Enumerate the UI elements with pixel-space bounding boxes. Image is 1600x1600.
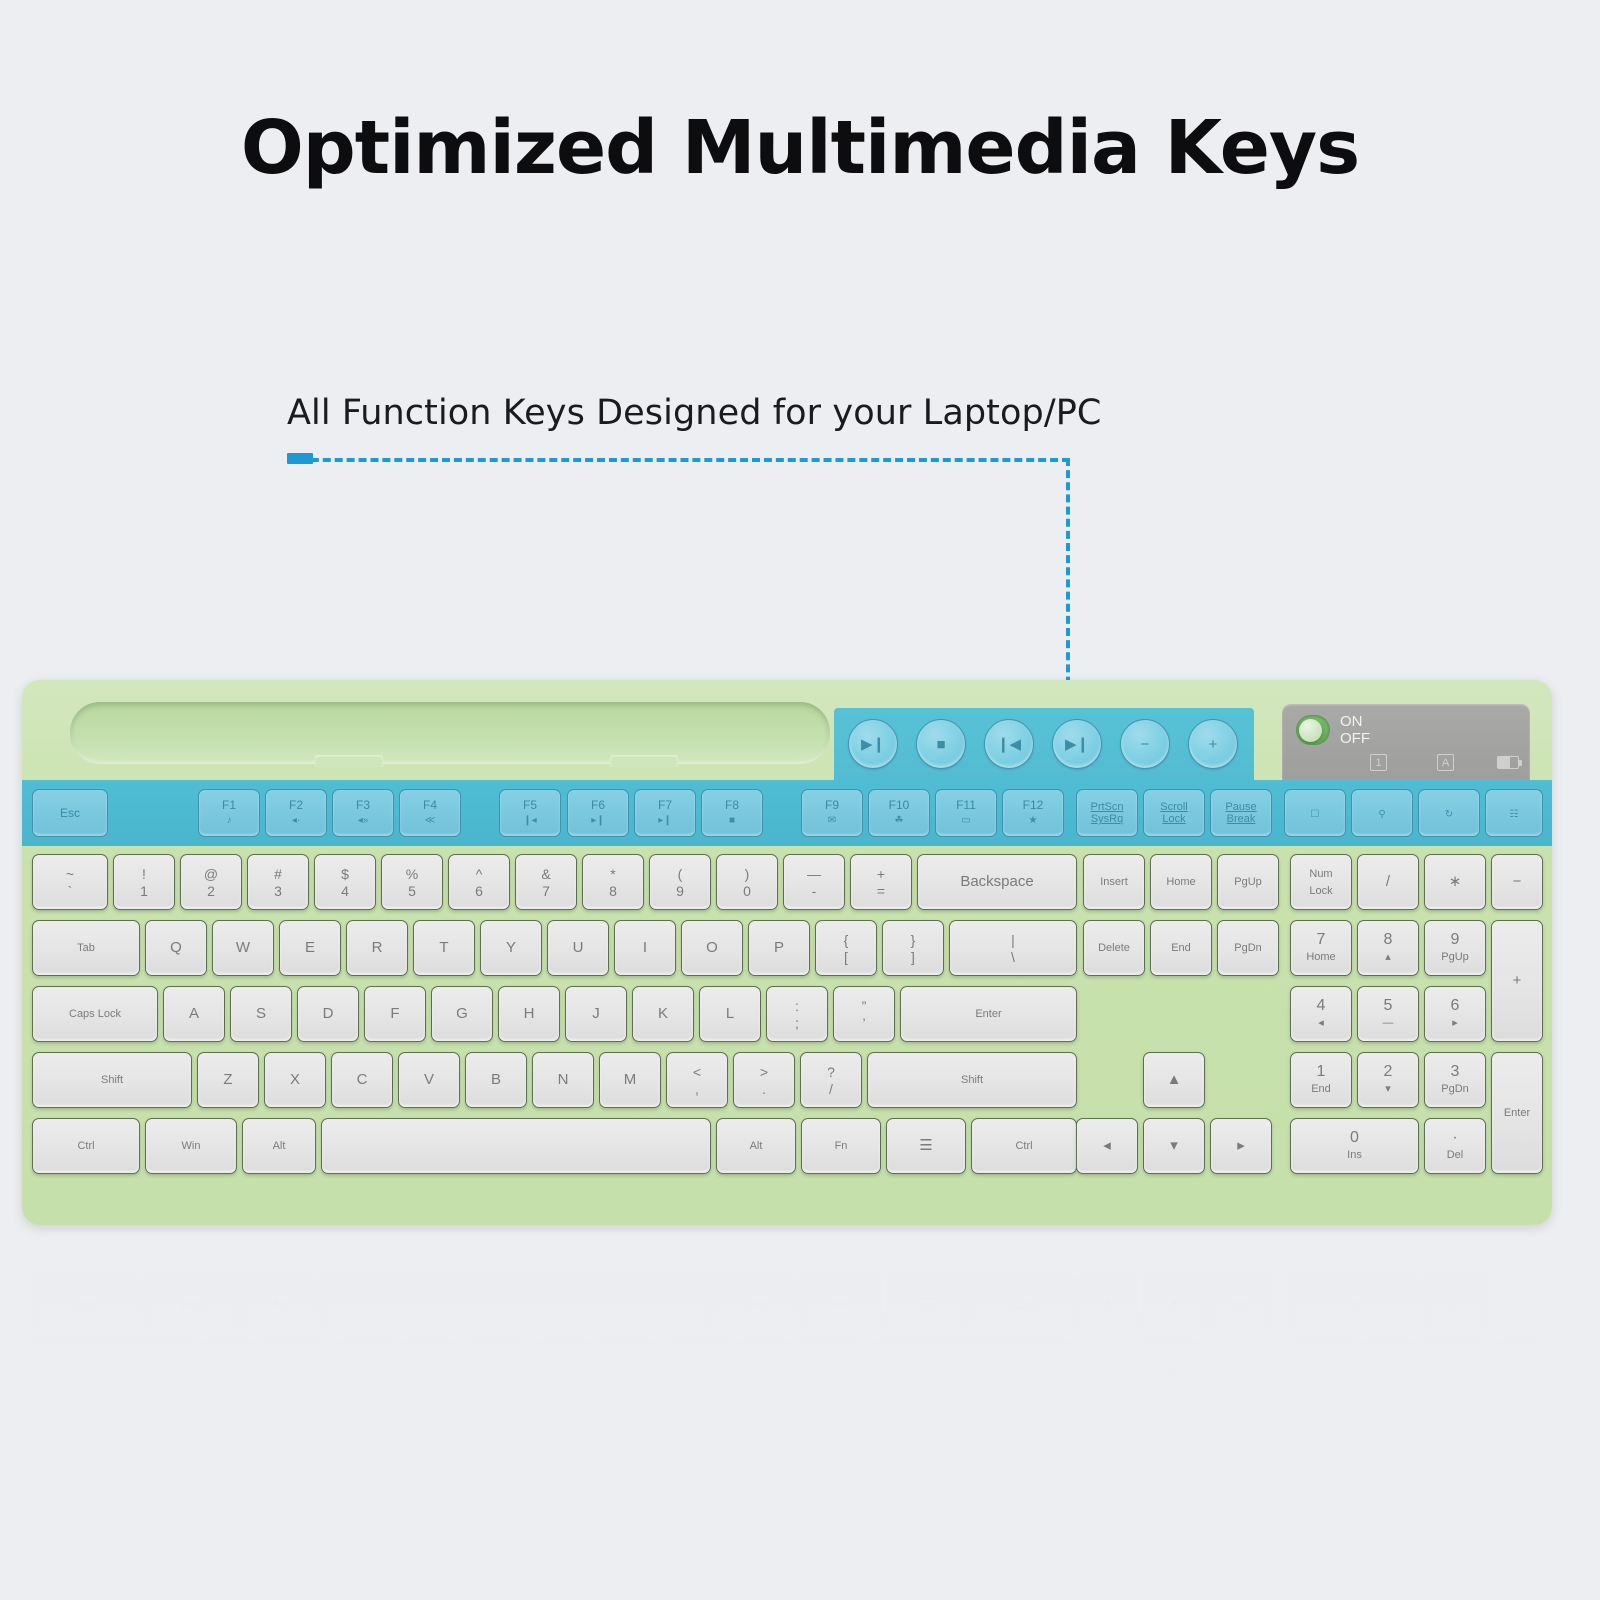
power-panel: ON OFF 1 A — [1282, 704, 1530, 780]
reflection-key: 0 — [1290, 1275, 1419, 1331]
key-b[interactable]: B — [465, 1052, 527, 1108]
key-j-label: J — [592, 1006, 600, 1022]
refresh-icon: ↻ — [1445, 808, 1453, 821]
key-[interactable]: ?/ — [800, 1052, 862, 1108]
battery-indicator — [1497, 756, 1519, 769]
key-g[interactable]: G — [431, 986, 493, 1042]
key-i[interactable]: I — [614, 920, 676, 976]
key-5-label-top: 5 — [1384, 998, 1393, 1014]
fnkey-f9-symbol-icon: ✉ — [828, 814, 836, 827]
fnkey-f5[interactable]: F5❙◂ — [499, 789, 561, 837]
fnkey-esc[interactable]: Esc — [32, 789, 108, 837]
fnkey-f7-label: F7 — [658, 799, 672, 812]
reflection-key: 3 — [1424, 1341, 1486, 1397]
on-label: ON — [1340, 713, 1370, 730]
key-s[interactable]: S — [230, 986, 292, 1042]
key--label-bottom: . — [762, 1081, 766, 1097]
fnkey-f11-symbol-icon: ▭ — [961, 814, 970, 827]
key-shift-label: Shift — [961, 1072, 983, 1088]
key-7home-label-bottom: Home — [1306, 949, 1335, 965]
key-enter-label: Enter — [1504, 1105, 1530, 1121]
key-shift-label: Shift — [101, 1072, 123, 1088]
volume-up-button[interactable]: + — [1188, 719, 1238, 769]
fnkey-f6[interactable]: F6▸❙ — [567, 789, 629, 837]
fnkey-f2-symbol-icon: ◂· — [292, 814, 300, 827]
num-lock-indicator: 1 — [1370, 754, 1387, 771]
fnkey-scroll[interactable]: ScrollLock — [1143, 789, 1205, 837]
key-p-label: P — [774, 940, 784, 956]
key-m-label: M — [624, 1072, 637, 1088]
key-numlock[interactable]: NumLock — [1290, 854, 1352, 910]
key-[interactable]: / — [1357, 854, 1419, 910]
keyboard: ▶❙■❙◀▶❙−+ ON OFF 1 A EscF1♪F2◂·F — [22, 680, 1552, 1225]
function-key-band: EscF1♪F2◂·F3◂»F4≪F5❙◂F6▸❙F7▸❙F8■F9✉F10☘F… — [22, 780, 1552, 846]
key-[interactable]: += — [850, 854, 912, 910]
key--label-bottom: [ — [844, 949, 848, 965]
fnkey-f9[interactable]: F9✉ — [801, 789, 863, 837]
key-v-label: V — [424, 1072, 434, 1088]
key-e[interactable]: E — [279, 920, 341, 976]
key-end[interactable]: End — [1150, 920, 1212, 976]
previous-track-button-glyph: ❙◀ — [997, 737, 1021, 752]
key-enter[interactable]: Enter — [900, 986, 1077, 1042]
reflection-key: X — [264, 1341, 326, 1397]
fnkey-f7[interactable]: F7▸❙ — [634, 789, 696, 837]
reflection-key: > — [733, 1341, 795, 1397]
key-5-label-bottom: — — [1383, 1015, 1394, 1031]
key-8-label-top: 8 — [1384, 932, 1393, 948]
key-caps-lock[interactable]: Caps Lock — [32, 986, 158, 1042]
fnkey-f4-label: F4 — [423, 799, 437, 812]
fnkey-f1-label: F1 — [222, 799, 236, 812]
power-switch-labels: ON OFF — [1340, 713, 1370, 747]
key-b-label: B — [491, 1072, 501, 1088]
volume-up-button-glyph: + — [1209, 737, 1218, 752]
key--label-top: | — [1011, 932, 1015, 948]
key-pgup-label: PgUp — [1234, 874, 1262, 890]
fnkey-prtscn-label-top: PrtScn — [1090, 801, 1123, 813]
key-del[interactable]: ·Del — [1424, 1118, 1486, 1174]
key--label-bottom: = — [877, 883, 885, 899]
device-holder-tray — [70, 702, 830, 764]
key-q[interactable]: Q — [145, 920, 207, 976]
key-4-label-top: $ — [341, 866, 349, 882]
key--label-top: — — [807, 866, 821, 882]
key-win[interactable]: Win — [145, 1118, 237, 1174]
key-h-label: H — [524, 1006, 535, 1022]
key-shift[interactable]: Shift — [867, 1052, 1077, 1108]
reflection-key: B — [465, 1341, 527, 1397]
calculator-icon: ☷ — [1510, 808, 1519, 821]
key-y[interactable]: Y — [480, 920, 542, 976]
fnkey-f10[interactable]: F10☘ — [868, 789, 930, 837]
fnkey-f3[interactable]: F3◂» — [332, 789, 394, 837]
key-0ins[interactable]: 0Ins — [1290, 1118, 1419, 1174]
key-[interactable]: + — [1491, 920, 1543, 1042]
reflection-key: 1 — [1290, 1341, 1352, 1397]
key-u-label: U — [573, 940, 584, 956]
key-[interactable]: − — [1491, 854, 1543, 910]
fnkey-f12-label: F12 — [1023, 799, 1044, 812]
key-ctrl[interactable]: Ctrl — [32, 1118, 140, 1174]
fnkey-f8-label: F8 — [725, 799, 739, 812]
reflection-key: Fn — [801, 1275, 881, 1331]
reflection-key: Alt — [716, 1275, 796, 1331]
fnkey-f1[interactable]: F1♪ — [198, 789, 260, 837]
monitor-key[interactable]: ☐ — [1284, 789, 1346, 837]
key-p[interactable]: P — [748, 920, 810, 976]
key-3-label-bottom: 3 — [274, 883, 282, 899]
key--label-top: ” — [862, 998, 867, 1014]
key--label: ▸ — [1237, 1138, 1245, 1154]
key-4-label-bottom: 4 — [341, 883, 349, 899]
key-x-label: X — [290, 1072, 300, 1088]
fnkey-f10-symbol-icon: ☘ — [895, 814, 904, 827]
callout: All Function Keys Designed for your Lapt… — [287, 393, 1101, 433]
key-0-label-top: ) — [745, 866, 750, 882]
fnkey-f12-symbol-icon: ★ — [1029, 814, 1038, 827]
key-fn[interactable]: Fn — [801, 1118, 881, 1174]
key-d[interactable]: D — [297, 986, 359, 1042]
key-enter[interactable]: Enter — [1491, 1052, 1543, 1174]
key-5[interactable]: %5 — [381, 854, 443, 910]
key--label: + — [1513, 973, 1522, 989]
key-home-label: Home — [1166, 874, 1195, 890]
key-insert-label: Insert — [1100, 874, 1128, 890]
reflection-key: ☰ — [886, 1275, 966, 1331]
key-q-label: Q — [170, 940, 182, 956]
fnkey-f12[interactable]: F12★ — [1002, 789, 1064, 837]
key-3pgdn[interactable]: 3PgDn — [1424, 1052, 1486, 1108]
key-backspace[interactable]: Backspace — [917, 854, 1077, 910]
key-8[interactable]: *8 — [582, 854, 644, 910]
keyboard-reflection: CtrlWinAltAltFn☰Ctrl◂▾▸0·ShiftZXCVBNM<>?… — [22, 1245, 1552, 1495]
reflection-key: Alt — [242, 1275, 316, 1331]
key-x[interactable]: X — [264, 1052, 326, 1108]
key-[interactable]: ▸ — [1210, 1118, 1272, 1174]
fnkey-f6-label: F6 — [591, 799, 605, 812]
key-[interactable]: ◂ — [1076, 1118, 1138, 1174]
key-7home-label-top: 7 — [1317, 932, 1326, 948]
fnkey-f2[interactable]: F2◂· — [265, 789, 327, 837]
fnkey-scroll-label-bottom: Lock — [1162, 813, 1185, 825]
product-marketing-image: Optimized Multimedia Keys All Function K… — [0, 0, 1600, 1600]
play-pause-button[interactable]: ▶❙ — [848, 719, 898, 769]
key-tab-label: Tab — [77, 940, 95, 956]
key-end-label: End — [1171, 940, 1191, 956]
key--label-bottom: ] — [911, 949, 915, 965]
reflection-key: Z — [197, 1341, 259, 1397]
key-1end-label-top: 1 — [1317, 1064, 1326, 1080]
fnkey-pause-label-top: Pause — [1225, 801, 1256, 813]
key-1[interactable]: !1 — [113, 854, 175, 910]
key-z-label: Z — [223, 1072, 232, 1088]
previous-track-button[interactable]: ❙◀ — [984, 719, 1034, 769]
key-f-label: F — [390, 1006, 399, 1022]
key--label: ∗ — [1449, 874, 1462, 890]
key-[interactable]: |\ — [949, 920, 1077, 976]
reflection-key: < — [666, 1341, 728, 1397]
key-7[interactable]: &7 — [515, 854, 577, 910]
key-[interactable]: <, — [666, 1052, 728, 1108]
fnkey-f4[interactable]: F4≪ — [399, 789, 461, 837]
fnkey-pause-label-bottom: Break — [1227, 813, 1256, 825]
tray-nub-left — [315, 755, 383, 767]
fnkey-f11[interactable]: F11▭ — [935, 789, 997, 837]
media-control-panel: ▶❙■❙◀▶❙−+ — [834, 708, 1254, 780]
fnkey-f3-label: F3 — [356, 799, 370, 812]
key-i-label: I — [643, 940, 647, 956]
fnkey-f7-symbol-icon: ▸❙ — [658, 814, 671, 827]
key-pgup[interactable]: PgUp — [1217, 854, 1279, 910]
next-track-button-glyph: ▶❙ — [1065, 737, 1089, 752]
key-insert[interactable]: Insert — [1083, 854, 1145, 910]
key-a[interactable]: A — [163, 986, 225, 1042]
key-t[interactable]: T — [413, 920, 475, 976]
reflection-key: Enter — [1491, 1341, 1543, 1397]
key--label: ◂ — [1103, 1138, 1111, 1154]
key-8[interactable]: 8▴ — [1357, 920, 1419, 976]
reflection-key: M — [599, 1341, 661, 1397]
key-l-label: L — [726, 1006, 734, 1022]
key--label-top: } — [911, 932, 916, 948]
key-9-label-bottom: 9 — [676, 883, 684, 899]
key-2-label-top: @ — [204, 866, 218, 882]
key-9[interactable]: (9 — [649, 854, 711, 910]
key-r[interactable]: R — [346, 920, 408, 976]
key-s-label: S — [256, 1006, 266, 1022]
power-switch-knob — [1299, 719, 1322, 742]
key-2-label-bottom: 2 — [207, 883, 215, 899]
reflection-key: C — [331, 1341, 393, 1397]
key-h[interactable]: H — [498, 986, 560, 1042]
key-r-label: R — [372, 940, 383, 956]
key-alt[interactable]: Alt — [242, 1118, 316, 1174]
reflection-key: Shift — [867, 1341, 1077, 1397]
key-5[interactable]: 5— — [1357, 986, 1419, 1042]
key-n-label: N — [558, 1072, 569, 1088]
key-9-label-top: ( — [678, 866, 683, 882]
key-v[interactable]: V — [398, 1052, 460, 1108]
key-8-label-bottom: ▴ — [1385, 949, 1391, 965]
key-z[interactable]: Z — [197, 1052, 259, 1108]
fnkey-f1-symbol-icon: ♪ — [227, 814, 232, 827]
fnkey-pause[interactable]: PauseBreak — [1210, 789, 1272, 837]
volume-down-button-glyph: − — [1141, 737, 1150, 752]
reflection-key — [321, 1275, 711, 1331]
tray-nub-right — [610, 755, 678, 767]
key-ctrl[interactable]: Ctrl — [971, 1118, 1077, 1174]
key-[interactable]: }] — [882, 920, 944, 976]
key-e-label: E — [305, 940, 315, 956]
reflection-key: V — [398, 1341, 460, 1397]
key-l[interactable]: L — [699, 986, 761, 1042]
callout-line-horizontal — [287, 458, 1070, 462]
key-1-label-top: ! — [142, 866, 146, 882]
key--label: ▲ — [1167, 1072, 1182, 1088]
key--label-bottom: , — [695, 1081, 699, 1097]
key-6-label-top: 6 — [1451, 998, 1460, 1014]
key-3[interactable]: #3 — [247, 854, 309, 910]
key-ctrl-label: Ctrl — [77, 1138, 94, 1154]
key-[interactable]: —- — [783, 854, 845, 910]
key-c[interactable]: C — [331, 1052, 393, 1108]
key-u[interactable]: U — [547, 920, 609, 976]
key--label-bottom: ; — [795, 1015, 799, 1031]
fnkey-f5-label: F5 — [523, 799, 537, 812]
key-d-label: D — [323, 1006, 334, 1022]
key-5-label-top: % — [406, 866, 418, 882]
key-9pgup-label-bottom: PgUp — [1441, 949, 1469, 965]
key-delete-label: Delete — [1098, 940, 1130, 956]
key--label-top: ? — [827, 1064, 835, 1080]
search-icon: ⚲ — [1378, 808, 1385, 821]
key-1-label-bottom: 1 — [140, 883, 148, 899]
key--label: − — [1513, 874, 1522, 890]
reflection-key: Ctrl — [971, 1275, 1077, 1331]
key--label-top: > — [760, 1064, 768, 1080]
page-title: Optimized Multimedia Keys — [0, 105, 1600, 191]
key-8-label-top: * — [610, 866, 615, 882]
power-switch[interactable] — [1296, 715, 1330, 745]
key-shift[interactable]: Shift — [32, 1052, 192, 1108]
key-2[interactable]: 2▾ — [1357, 1052, 1419, 1108]
key-6-label-bottom: ▸ — [1452, 1015, 1458, 1031]
reflection-key: ▾ — [1143, 1275, 1205, 1331]
fnkey-f6-symbol-icon: ▸❙ — [591, 814, 604, 827]
fnkey-f10-label: F10 — [889, 799, 910, 812]
key--label-top: + — [877, 866, 885, 882]
key-[interactable]: ”’ — [833, 986, 895, 1042]
key--label-bottom: - — [812, 883, 817, 899]
play-pause-button-glyph: ▶❙ — [861, 737, 885, 752]
key-o[interactable]: O — [681, 920, 743, 976]
fnkey-prtscn[interactable]: PrtScnSysRq — [1076, 789, 1138, 837]
key-win-label: Win — [182, 1138, 201, 1154]
key-3-label-top: # — [274, 866, 282, 882]
key-2[interactable]: @2 — [180, 854, 242, 910]
reflection-key: Win — [145, 1275, 237, 1331]
key-[interactable]: ~` — [32, 854, 108, 910]
key-pgdn-label: PgDn — [1234, 940, 1262, 956]
reflection-key: ◂ — [1076, 1275, 1138, 1331]
key-[interactable]: ∗ — [1424, 854, 1486, 910]
volume-down-button[interactable]: − — [1120, 719, 1170, 769]
key-4[interactable]: 4◂ — [1290, 986, 1352, 1042]
key--label-bottom: \ — [1011, 949, 1015, 965]
key-a-label: A — [189, 1006, 199, 1022]
key-[interactable]: {[ — [815, 920, 877, 976]
key-g-label: G — [456, 1006, 468, 1022]
key-9pgup-label-top: 9 — [1451, 932, 1460, 948]
key--label-bottom: ’ — [862, 1015, 865, 1031]
fnkey-f3-symbol-icon: ◂» — [358, 814, 369, 827]
stop-button-glyph: ■ — [936, 737, 945, 752]
key-7-label-top: & — [541, 866, 550, 882]
reflection-key: ▲ — [1143, 1341, 1205, 1397]
key-alt[interactable]: Alt — [716, 1118, 796, 1174]
key-7home[interactable]: 7Home — [1290, 920, 1352, 976]
key-1end[interactable]: 1End — [1290, 1052, 1352, 1108]
reflection-key: ▸ — [1210, 1275, 1272, 1331]
refresh-key[interactable]: ↻ — [1418, 789, 1480, 837]
key-[interactable]: ☰ — [886, 1118, 966, 1174]
key-alt-label: Alt — [273, 1138, 286, 1154]
key-t-label: T — [439, 940, 448, 956]
key-6[interactable]: ^6 — [448, 854, 510, 910]
calculator-key[interactable]: ☷ — [1485, 789, 1543, 837]
fnkey-f9-label: F9 — [825, 799, 839, 812]
key-[interactable]: :; — [766, 986, 828, 1042]
key-7-label-bottom: 7 — [542, 883, 550, 899]
key-del-label-bottom: Del — [1447, 1147, 1464, 1163]
key--label-bottom: / — [829, 1081, 833, 1097]
key-n[interactable]: N — [532, 1052, 594, 1108]
fnkey-f8[interactable]: F8■ — [701, 789, 763, 837]
reflection-key: Shift — [32, 1341, 192, 1397]
key--label: / — [1386, 874, 1390, 890]
key-4[interactable]: $4 — [314, 854, 376, 910]
key-fn-label: Fn — [835, 1138, 848, 1154]
stop-button[interactable]: ■ — [916, 719, 966, 769]
key-[interactable]: ▲ — [1143, 1052, 1205, 1108]
key-6-label-top: ^ — [476, 866, 483, 882]
key-tab[interactable]: Tab — [32, 920, 140, 976]
key-home[interactable]: Home — [1150, 854, 1212, 910]
key-9pgup[interactable]: 9PgUp — [1424, 920, 1486, 976]
callout-text: All Function Keys Designed for your Lapt… — [287, 393, 1101, 433]
key-0ins-label-bottom: Ins — [1347, 1147, 1362, 1163]
key-3pgdn-label-bottom: PgDn — [1441, 1081, 1469, 1097]
key-8-label-bottom: 8 — [609, 883, 617, 899]
key-0ins-label-top: 0 — [1350, 1130, 1359, 1146]
key-space[interactable] — [321, 1118, 711, 1174]
key-[interactable]: >. — [733, 1052, 795, 1108]
key-j[interactable]: J — [565, 986, 627, 1042]
search-key[interactable]: ⚲ — [1351, 789, 1413, 837]
key-k[interactable]: K — [632, 986, 694, 1042]
next-track-button[interactable]: ▶❙ — [1052, 719, 1102, 769]
fnkey-f5-symbol-icon: ❙◂ — [523, 814, 536, 827]
key-4-label-bottom: ◂ — [1318, 1015, 1324, 1031]
reflection-key: ? — [800, 1341, 862, 1397]
key--label-bottom: ` — [68, 883, 73, 899]
key--label-top: < — [693, 1064, 701, 1080]
key-delete[interactable]: Delete — [1083, 920, 1145, 976]
key-1end-label-bottom: End — [1311, 1081, 1331, 1097]
key-numlock-label-bottom: Lock — [1309, 883, 1332, 899]
fnkey-f2-label: F2 — [289, 799, 303, 812]
menu-icon: ☰ — [919, 1138, 932, 1154]
key-0[interactable]: )0 — [716, 854, 778, 910]
reflection-key: · — [1424, 1275, 1486, 1331]
key-caps-lock-label: Caps Lock — [69, 1006, 121, 1022]
key-numlock-label-top: Num — [1309, 866, 1332, 882]
reflection-key: 2 — [1357, 1341, 1419, 1397]
key-[interactable]: ▾ — [1143, 1118, 1205, 1174]
key-pgdn[interactable]: PgDn — [1217, 920, 1279, 976]
key--label: ▾ — [1170, 1138, 1178, 1154]
key--label-top: ~ — [66, 866, 74, 882]
key-f[interactable]: F — [364, 986, 426, 1042]
key-w[interactable]: W — [212, 920, 274, 976]
key-m[interactable]: M — [599, 1052, 661, 1108]
off-label: OFF — [1340, 730, 1370, 747]
fnkey-f4-symbol-icon: ≪ — [425, 814, 435, 827]
key-0-label-bottom: 0 — [743, 883, 751, 899]
key-6[interactable]: 6▸ — [1424, 986, 1486, 1042]
fnkey-prtscn-label-bottom: SysRq — [1091, 813, 1123, 825]
